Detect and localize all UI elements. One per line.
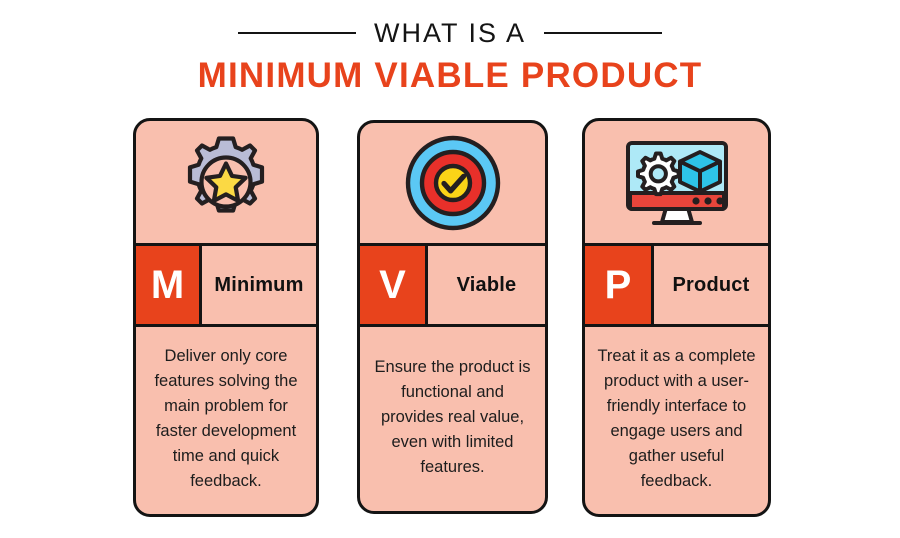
body-text: Treat it as a complete product with a us… — [595, 344, 758, 494]
letter-glyph: M — [151, 265, 184, 305]
rule-left-divider — [238, 32, 356, 34]
card-product: P Product Treat it as a complete product… — [582, 118, 771, 517]
icon-panel — [360, 123, 545, 246]
target-check-icon — [403, 133, 503, 233]
monitor-gear-cube-icon — [618, 135, 736, 229]
kicker-row: WHAT IS A — [238, 14, 662, 52]
letter-block: P — [585, 246, 654, 324]
page-title: MINIMUM VIABLE PRODUCT — [198, 56, 703, 96]
letter-glyph: V — [379, 265, 406, 305]
gear-star-icon — [174, 130, 278, 234]
body-panel: Ensure the product is functional and pro… — [360, 327, 545, 511]
card-minimum: M Minimum Deliver only core features sol… — [133, 118, 319, 517]
body-panel: Treat it as a complete product with a us… — [585, 327, 768, 514]
card-viable: V Viable Ensure the product is functiona… — [357, 120, 548, 514]
icon-panel — [585, 121, 768, 246]
letter-row: M Minimum — [136, 246, 316, 327]
letter-row: P Product — [585, 246, 768, 327]
body-text: Ensure the product is functional and pro… — [370, 355, 535, 480]
infographic-canvas: WHAT IS A MINIMUM VIABLE PRODUCT M M — [0, 0, 900, 538]
letter-block: V — [360, 246, 428, 324]
header: WHAT IS A MINIMUM VIABLE PRODUCT — [0, 14, 900, 96]
letter-block: M — [136, 246, 202, 324]
letter-label: Minimum — [202, 246, 316, 324]
body-text: Deliver only core features solving the m… — [146, 344, 306, 494]
body-panel: Deliver only core features solving the m… — [136, 327, 316, 514]
kicker-text: WHAT IS A — [374, 18, 526, 48]
letter-glyph: P — [605, 265, 632, 305]
rule-right-divider — [544, 32, 662, 34]
icon-panel — [136, 121, 316, 246]
letter-label: Viable — [428, 246, 545, 324]
letter-label: Product — [654, 246, 768, 324]
letter-row: V Viable — [360, 246, 545, 327]
